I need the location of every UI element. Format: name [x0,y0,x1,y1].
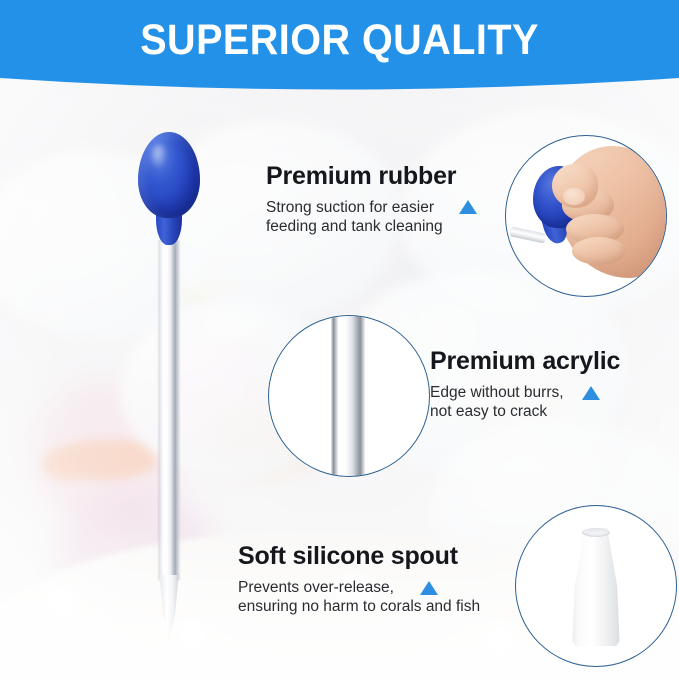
callout-circle-acrylic [268,315,430,477]
feature-body-line: feeding and tank cleaning [266,217,456,237]
feature-block-spout: Soft silicone spout Prevents over-releas… [238,543,480,617]
up-triangle-icon [459,200,477,214]
product-bulb-highlight [151,144,168,170]
product-rubber-bulb [138,132,200,218]
feature-body-spout: Prevents over-release, ensuring no harm … [238,578,480,618]
feature-body-line: not easy to crack [430,402,620,422]
callout-circle-spout [515,505,677,667]
page-title: SUPERIOR QUALITY [27,0,652,80]
product-acrylic-tube [159,240,179,580]
feature-title-rubber: Premium rubber [266,163,456,191]
product-infographic: SUPERIOR QUALITY [0,0,679,679]
feature-body-rubber: Strong suction for easier feeding and ta… [266,198,456,238]
callout-tube-stub [509,226,546,243]
header-banner: SUPERIOR QUALITY [0,0,679,92]
feature-body-line: ensuring no harm to corals and fish [238,597,480,617]
feature-block-acrylic: Premium acrylic Edge without burrs, not … [430,348,620,422]
silicone-spout-body [568,528,624,646]
feature-title-spout: Soft silicone spout [238,543,480,571]
callout-rubber-image [506,136,666,296]
feature-title-acrylic: Premium acrylic [430,348,620,376]
feature-body-line: Strong suction for easier [266,198,456,218]
feature-body-line: Prevents over-release, [238,578,480,598]
up-triangle-icon [420,581,438,595]
acrylic-tube-closeup [331,316,365,476]
silicone-spout-rim [582,528,610,537]
thumbnail [563,188,585,205]
callout-acrylic-image [269,316,429,476]
callout-spout-image [516,506,676,666]
feature-block-rubber: Premium rubber Strong suction for easier… [266,163,456,237]
up-triangle-icon [582,386,600,400]
finger-ring [572,237,626,265]
callout-circle-rubber [505,135,667,297]
